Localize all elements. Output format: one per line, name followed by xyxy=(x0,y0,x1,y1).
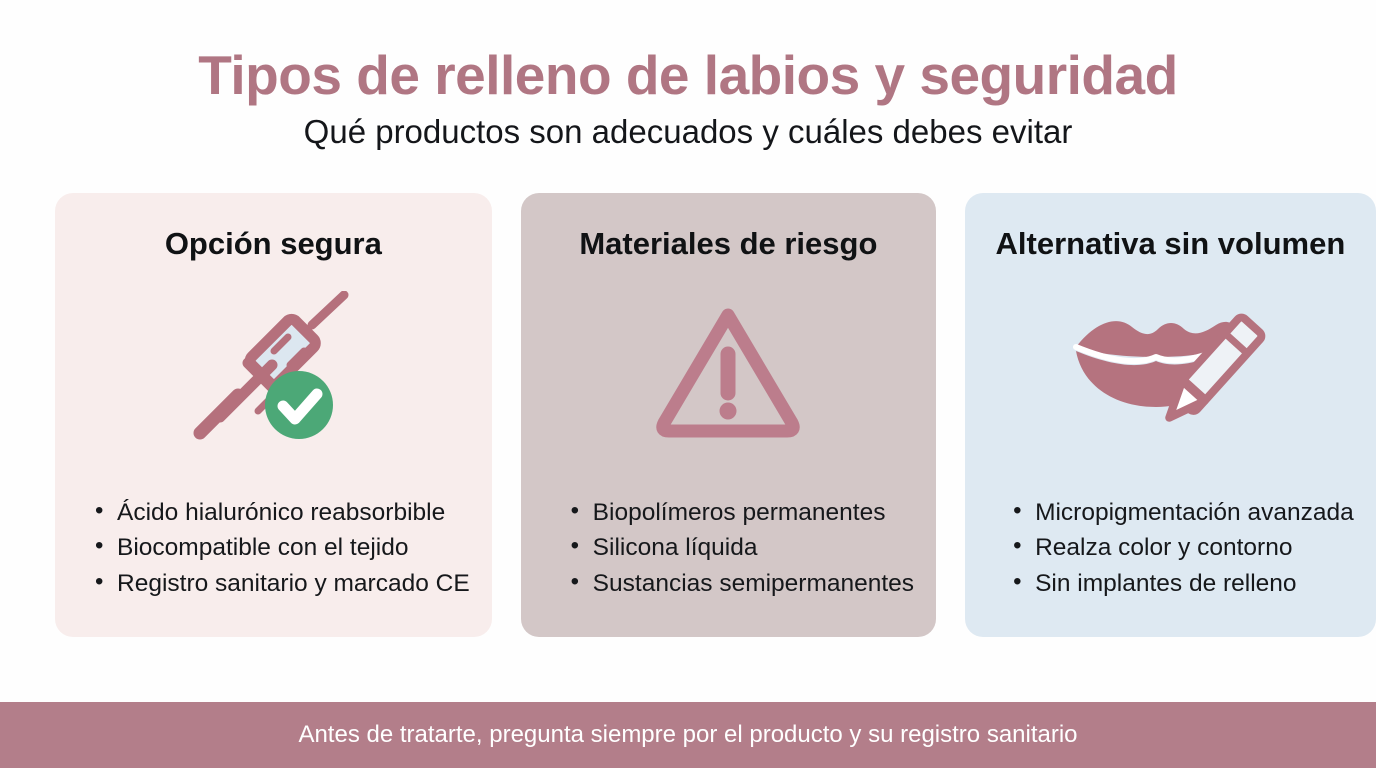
list-item: Realza color y contorno xyxy=(1009,530,1354,566)
list-item: Sin implantes de relleno xyxy=(1009,566,1354,602)
card-title: Opción segura xyxy=(77,227,470,261)
warning-triangle-icon xyxy=(543,261,914,494)
header: Tipos de relleno de labios y seguridad Q… xyxy=(0,0,1376,151)
list-item: Silicona líquida xyxy=(567,530,914,566)
card-bullet-list: Ácido hialurónico reabsorbible Biocompat… xyxy=(77,495,470,602)
list-item: Registro sanitario y marcado CE xyxy=(91,566,470,602)
card-bullet-list: Biopolímeros permanentes Silicona líquid… xyxy=(543,495,914,602)
card-title: Materiales de riesgo xyxy=(543,227,914,261)
card-safe-option[interactable]: Opción segura xyxy=(55,193,492,637)
cards-row: Opción segura xyxy=(0,193,1376,637)
page-title: Tipos de relleno de labios y seguridad xyxy=(0,46,1376,105)
card-bullet-list: Micropigmentación avanzada Realza color … xyxy=(987,495,1354,602)
footer-message: Antes de tratarte, pregunta siempre por … xyxy=(298,721,1077,750)
card-no-volume-alternative[interactable]: Alternativa sin volumen xyxy=(965,193,1376,637)
list-item: Ácido hialurónico reabsorbible xyxy=(91,495,470,531)
list-item: Biocompatible con el tejido xyxy=(91,530,470,566)
list-item: Sustancias semipermanentes xyxy=(567,566,914,602)
list-item: Micropigmentación avanzada xyxy=(1009,495,1354,531)
footer-banner: Antes de tratarte, pregunta siempre por … xyxy=(0,702,1376,768)
syringe-check-icon xyxy=(77,261,470,494)
list-item: Biopolímeros permanentes xyxy=(567,495,914,531)
infographic-root: Tipos de relleno de labios y seguridad Q… xyxy=(0,0,1376,768)
card-title: Alternativa sin volumen xyxy=(987,227,1354,261)
page-subtitle: Qué productos son adecuados y cuáles deb… xyxy=(0,113,1376,151)
card-risk-materials[interactable]: Materiales de riesgo Biopolímeros perman… xyxy=(521,193,936,637)
lips-pencil-icon xyxy=(987,261,1354,494)
